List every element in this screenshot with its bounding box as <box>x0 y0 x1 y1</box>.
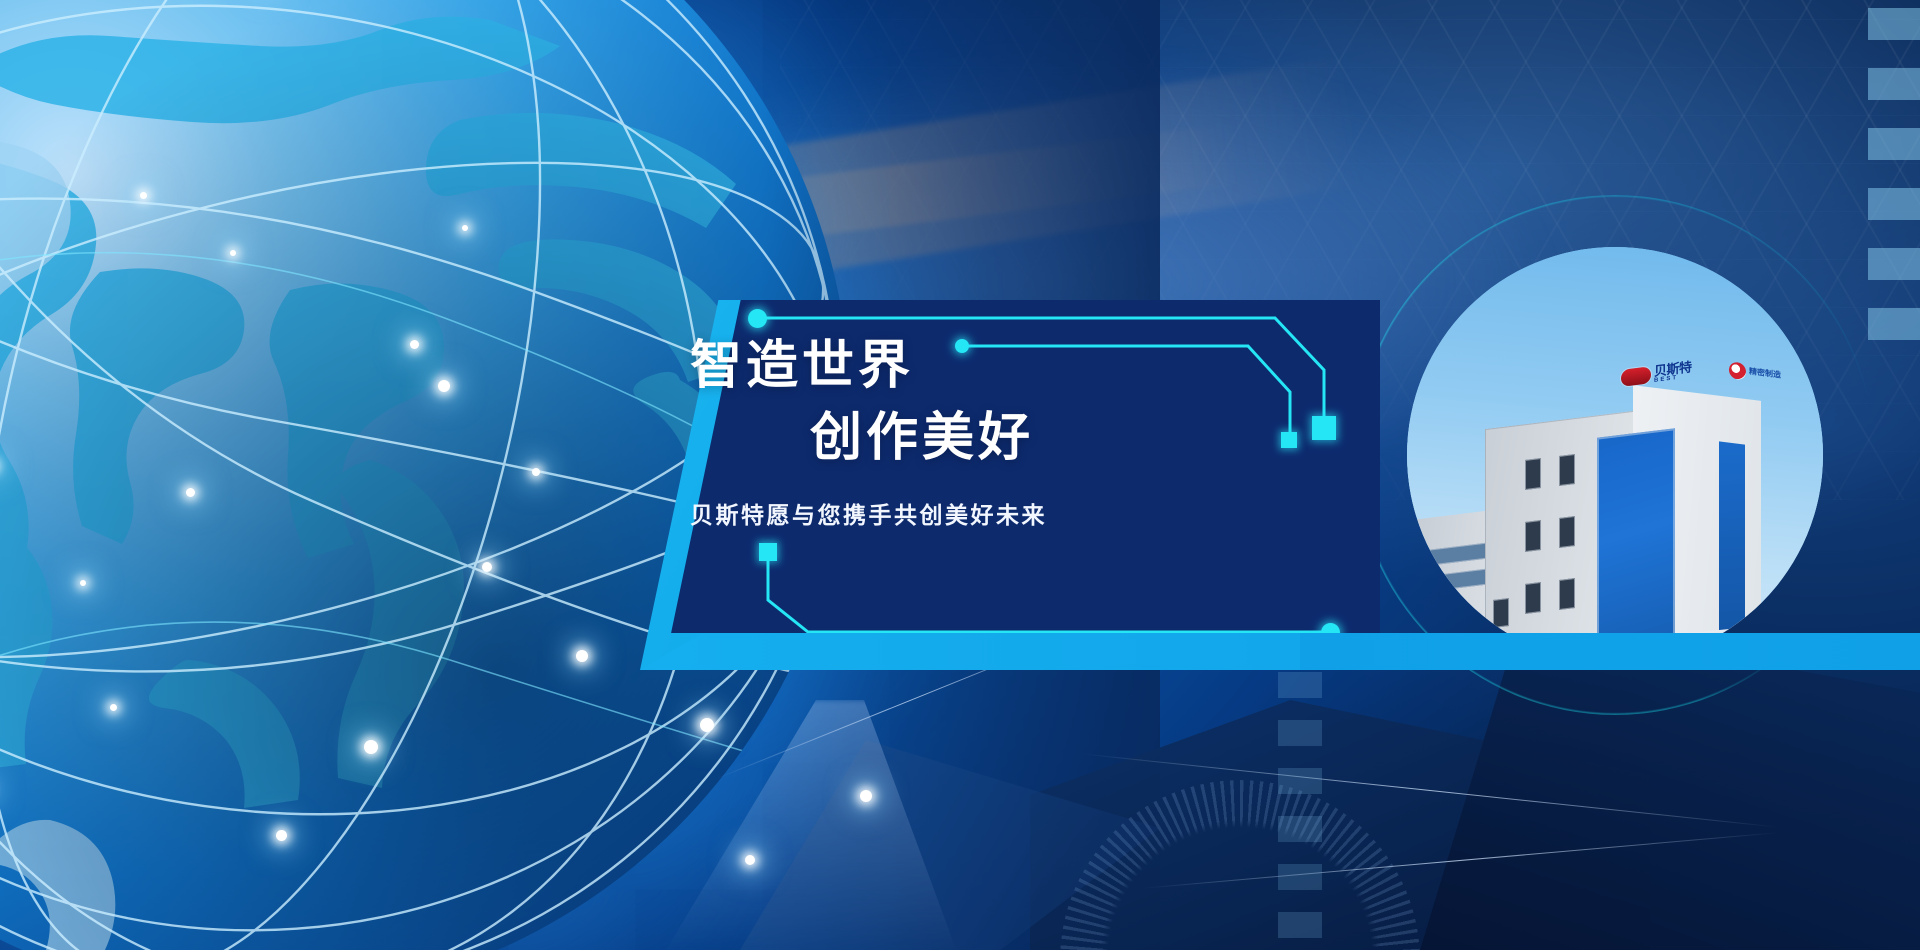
glass-curtain-wall <box>1597 428 1675 663</box>
decor-bar <box>1278 912 1322 938</box>
headline-line-1: 智造世界 <box>690 340 914 392</box>
building-photo: 热烈欢迎各位领导莅临指导 贝斯特 BEST 精密制造 <box>1407 247 1823 663</box>
headline-subtitle: 贝斯特愿与您携手共创美好未来 <box>690 496 1047 530</box>
decor-bar <box>1278 720 1322 746</box>
circuit-node-left-square <box>759 543 777 561</box>
panel-content: 智造世界 创作美好 贝斯特愿与您携手共创美好未来 <box>640 300 1380 670</box>
decor-bar <box>1868 248 1920 280</box>
hero-banner: 热烈欢迎各位领导莅临指导 贝斯特 BEST 精密制造 <box>0 0 1920 950</box>
circuit-node-second <box>955 339 969 353</box>
decor-bar <box>1868 308 1920 340</box>
secondary-logo-icon <box>1729 361 1746 380</box>
panel-bottom-bar-fade <box>1300 633 1920 670</box>
headline-line-2: 创作美好 <box>810 412 1034 464</box>
secondary-sign-text: 精密制造 <box>1749 368 1781 380</box>
decor-bar <box>1278 672 1322 698</box>
decor-bar <box>1868 128 1920 160</box>
decor-bar <box>1278 864 1322 890</box>
right-edge-bar-stack <box>1868 8 1920 368</box>
glass-strip <box>1719 441 1745 644</box>
headline-panel: 智造世界 创作美好 贝斯特愿与您携手共创美好未来 <box>640 300 1380 670</box>
center-bar-stack <box>1278 672 1322 950</box>
decor-bar <box>1278 768 1322 794</box>
decor-bar <box>1868 68 1920 100</box>
company-logo-mark <box>1621 366 1651 387</box>
decor-bar <box>1868 8 1920 40</box>
circuit-node-top-left <box>748 309 767 328</box>
decor-bar <box>1868 188 1920 220</box>
circuit-node-end-small <box>1281 432 1297 448</box>
circuit-node-end-large <box>1312 416 1336 440</box>
decor-bar <box>1278 816 1322 842</box>
